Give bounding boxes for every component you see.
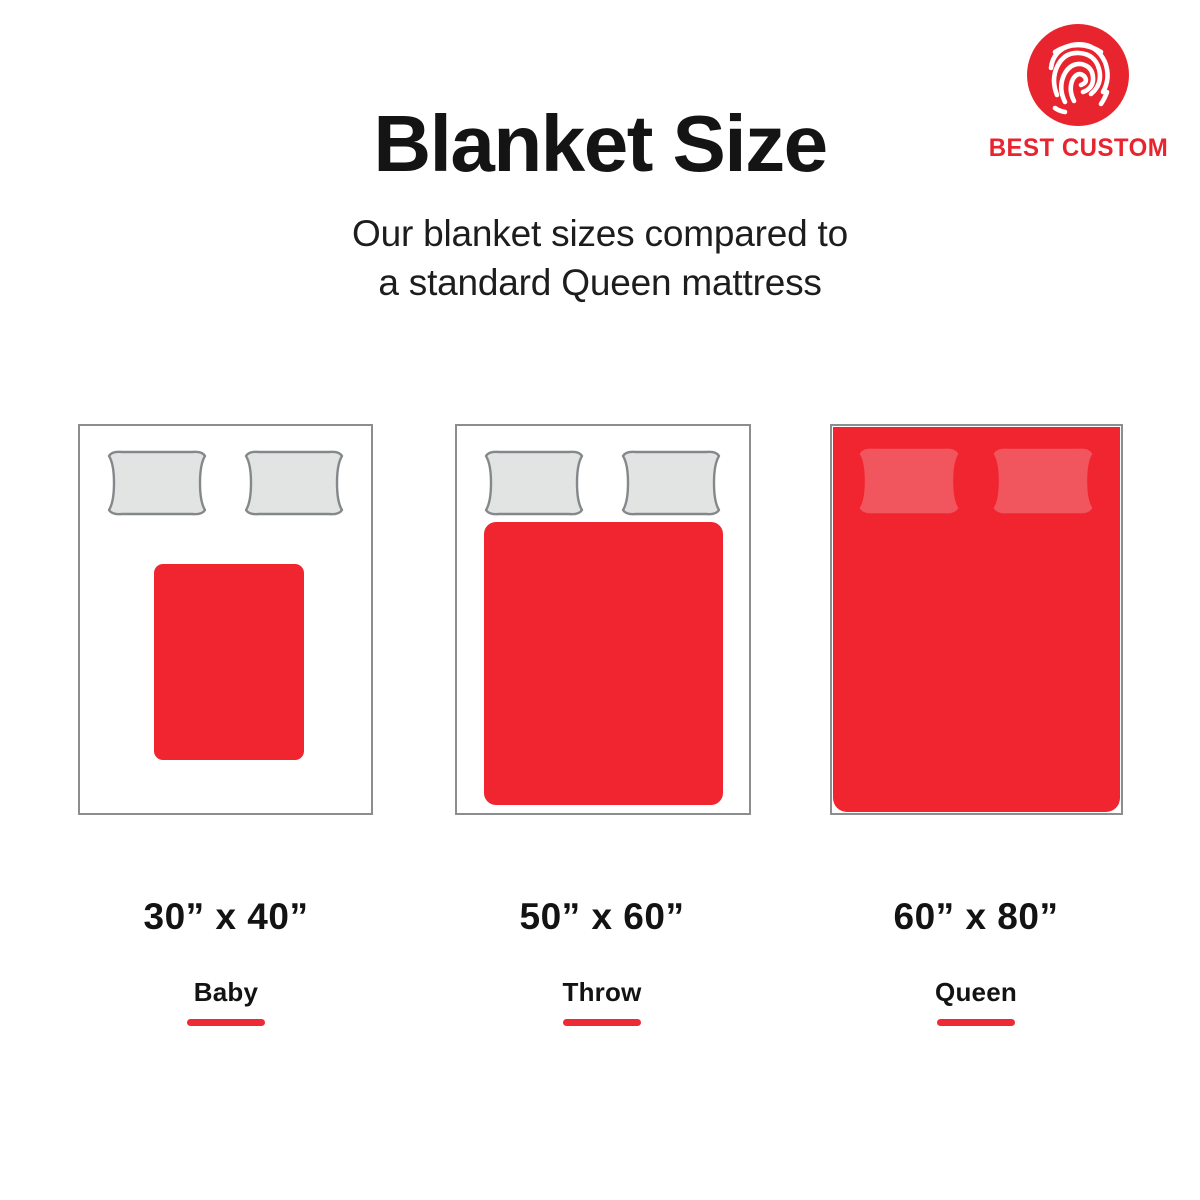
page-title: Blanket Size xyxy=(0,104,1200,184)
dimension-text: 60” x 80” xyxy=(826,898,1126,935)
pillow-icon xyxy=(988,446,1098,516)
bed-diagram-baby xyxy=(78,424,373,815)
size-name-text: Throw xyxy=(452,979,752,1005)
subtitle-line-2: a standard Queen mattress xyxy=(220,259,980,308)
bed-diagram-queen xyxy=(830,424,1123,815)
size-labels-row: 30” x 40” Baby 50” x 60” Throw 60” x 80”… xyxy=(0,898,1200,1058)
accent-underline xyxy=(563,1019,641,1026)
accent-underline xyxy=(187,1019,265,1026)
blanket-throw xyxy=(484,522,723,805)
header: Blanket Size Our blanket sizes compared … xyxy=(0,104,1200,308)
dimension-text: 50” x 60” xyxy=(452,898,752,935)
size-label-throw: 50” x 60” Throw xyxy=(452,898,752,1026)
blanket-queen xyxy=(833,427,1120,812)
page-subtitle: Our blanket sizes compared to a standard… xyxy=(220,210,980,308)
subtitle-line-1: Our blanket sizes compared to xyxy=(220,210,980,259)
size-label-queen: 60” x 80” Queen xyxy=(826,898,1126,1026)
pillow-icon xyxy=(102,448,212,518)
size-name-text: Queen xyxy=(826,979,1126,1005)
pillow-icon xyxy=(479,448,589,518)
pillow-icon xyxy=(854,446,964,516)
size-label-baby: 30” x 40” Baby xyxy=(76,898,376,1026)
bed-comparison-row xyxy=(0,424,1200,824)
dimension-text: 30” x 40” xyxy=(76,898,376,935)
bed-diagram-throw xyxy=(455,424,751,815)
pillow-icon xyxy=(616,448,726,518)
size-name-text: Baby xyxy=(76,979,376,1005)
blanket-baby xyxy=(154,564,304,760)
accent-underline xyxy=(937,1019,1015,1026)
pillow-icon xyxy=(239,448,349,518)
